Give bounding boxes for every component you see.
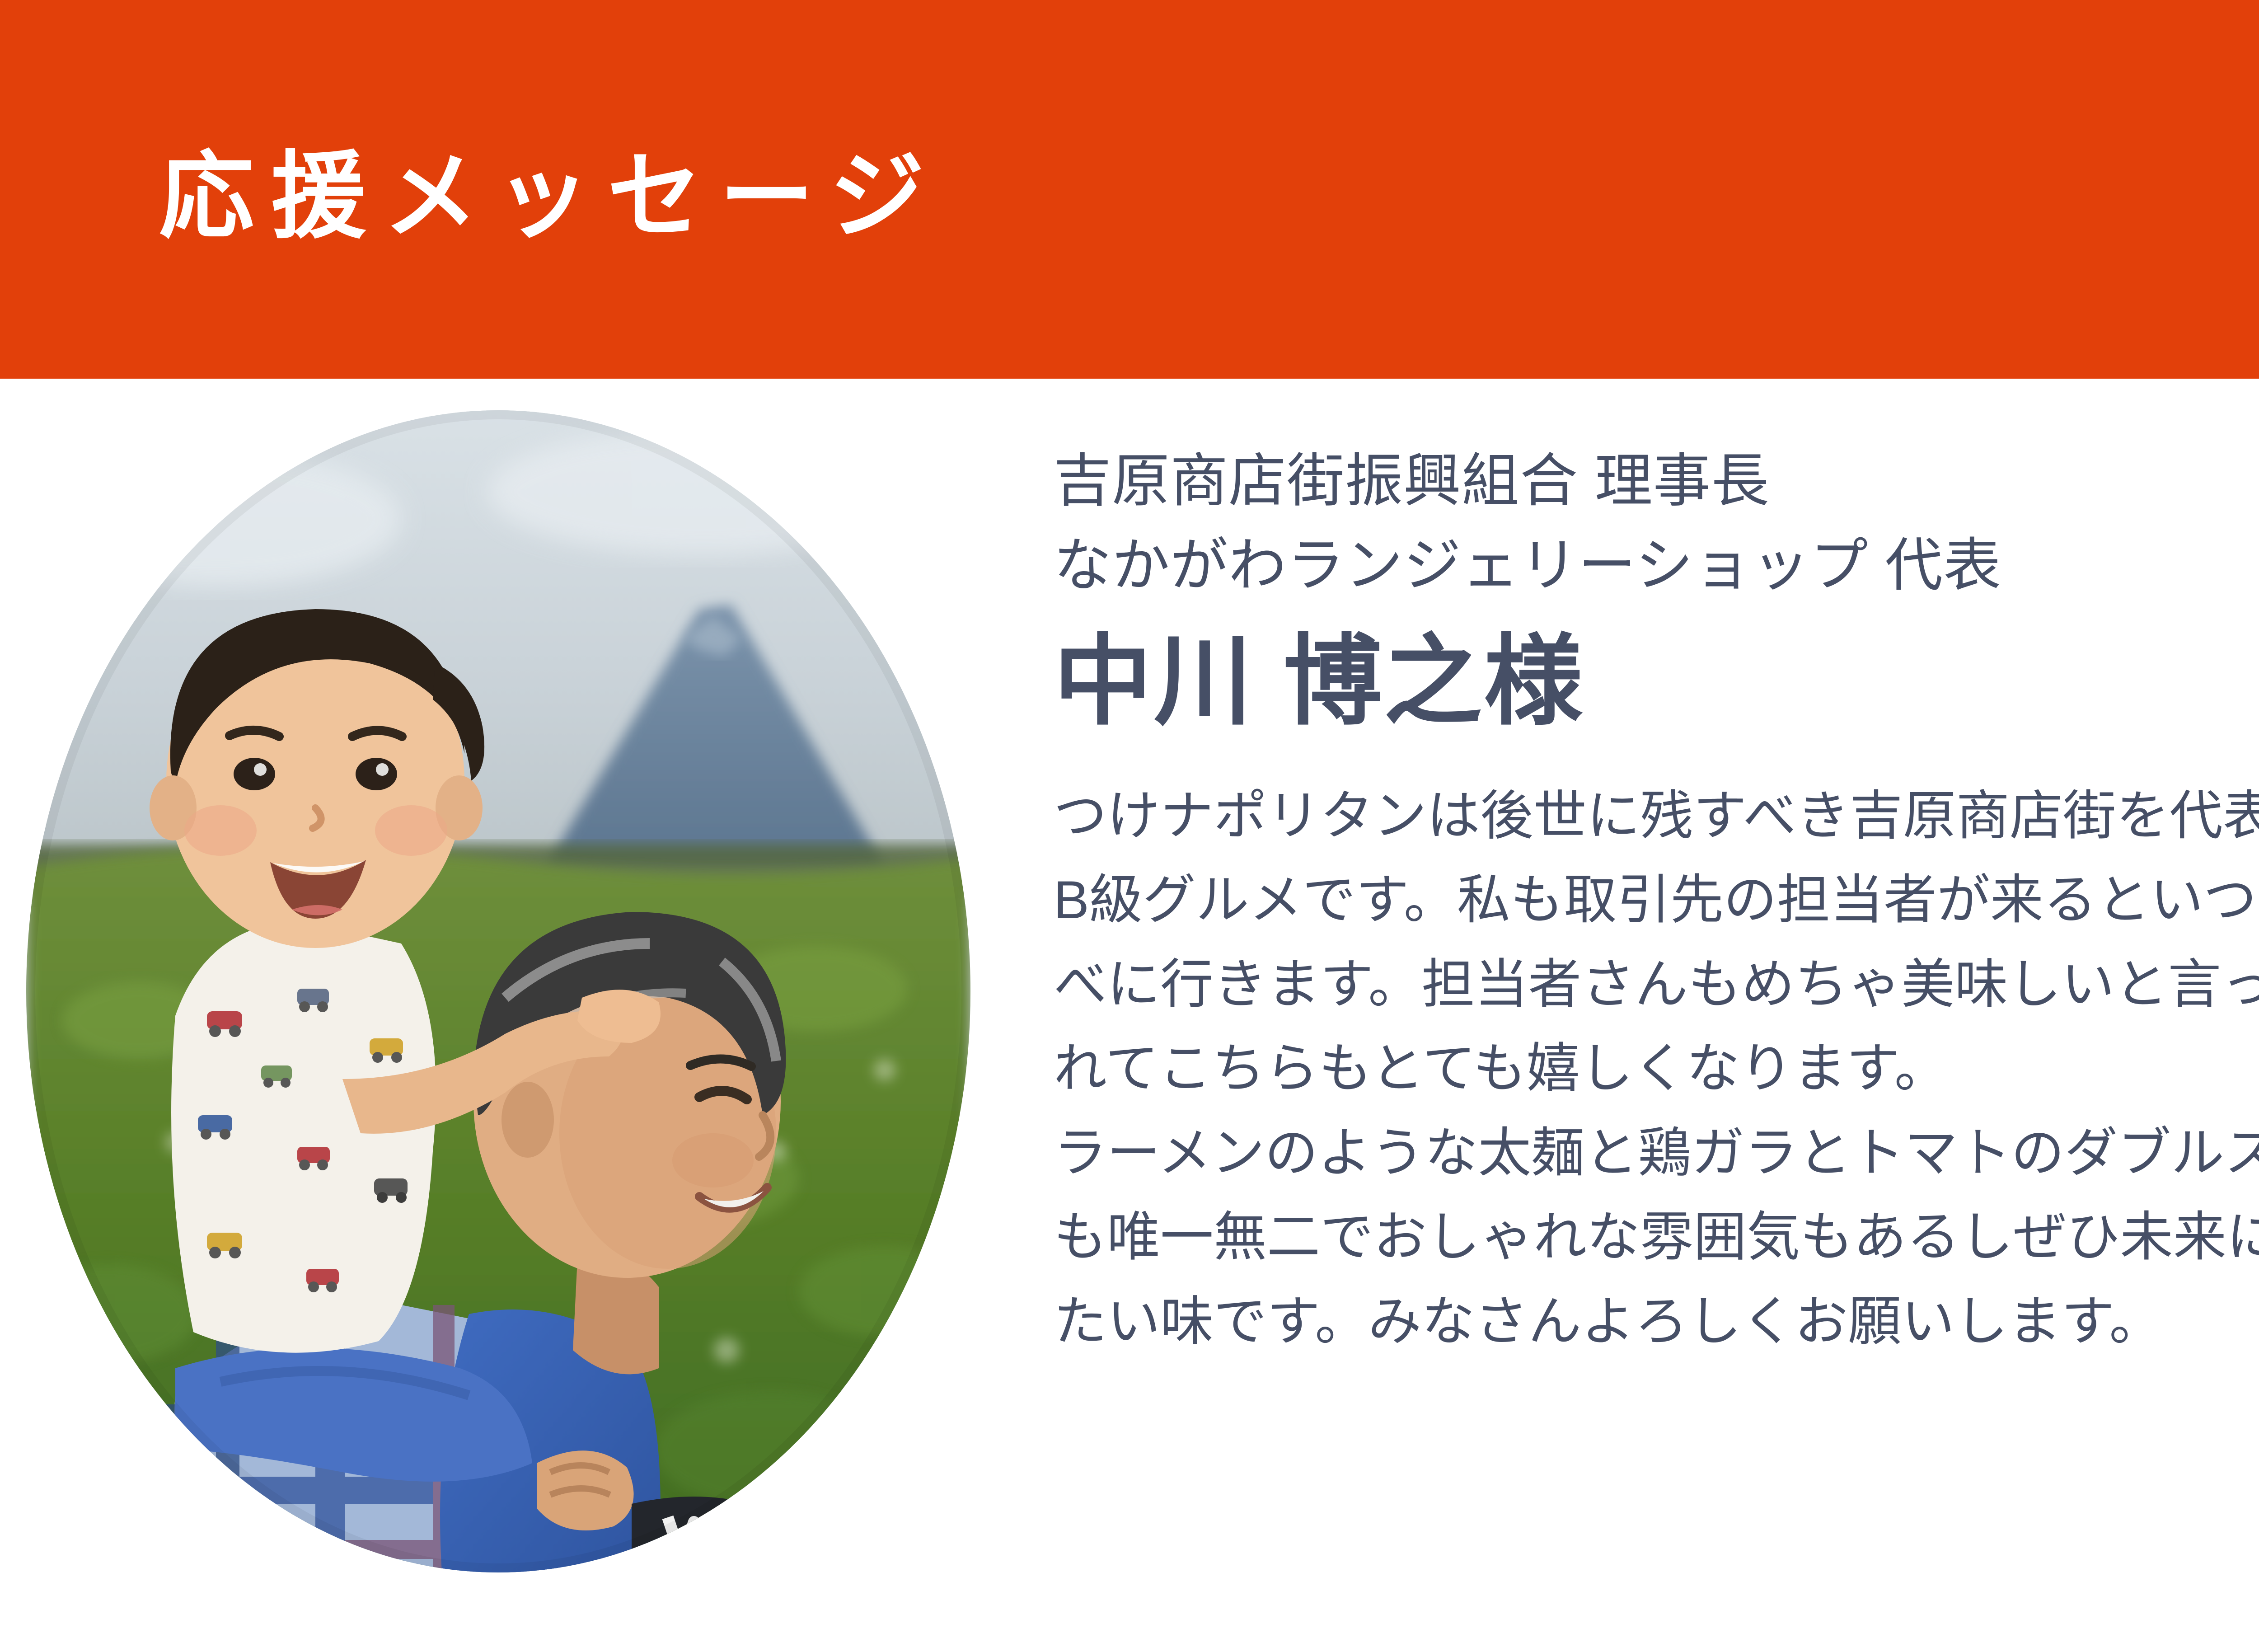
portrait-photo — [26, 410, 970, 1572]
header-banner: 応援メッセージ — [0, 0, 2259, 379]
message-line: れてこちらもとても嬉しくなります。 — [1054, 1027, 2259, 1111]
support-message-card: 応援メッセージ — [0, 0, 2259, 1652]
message-line: つけナポリタンは後世に残すべき吉原商店街を代表する — [1054, 774, 2259, 858]
message-line: も唯一無二でおしゃれな雰囲気もあるしぜひ未来に残し — [1054, 1195, 2259, 1279]
profile-name: 中川 博之様 — [1054, 624, 2259, 740]
page-title: 応援メッセージ — [159, 149, 942, 244]
message-line: べに行きます。担当者さんもめちゃ美味しいと言ってく — [1054, 943, 2259, 1027]
message-body: つけナポリタンは後世に残すべき吉原商店街を代表する B級グルメです。私も取引先の… — [1054, 774, 2259, 1364]
profile-info: 吉原商店街振興組合 理事長 なかがわランジェリーショップ 代表 中川 博之様 つ… — [1054, 439, 2259, 1364]
message-line: ラーメンのような太麺と鶏ガラとトマトのダブルスープ — [1054, 1111, 2259, 1195]
message-line: B級グルメです。私も取引先の担当者が来るといつも食 — [1054, 858, 2259, 942]
portrait-photo-illustration — [26, 410, 970, 1572]
profile-role-line-2: なかがわランジェリーショップ 代表 — [1054, 524, 2259, 608]
profile-role-line-1: 吉原商店街振興組合 理事長 — [1054, 439, 2259, 524]
message-line: たい味です。みなさんよろしくお願いします。 — [1054, 1280, 2259, 1364]
